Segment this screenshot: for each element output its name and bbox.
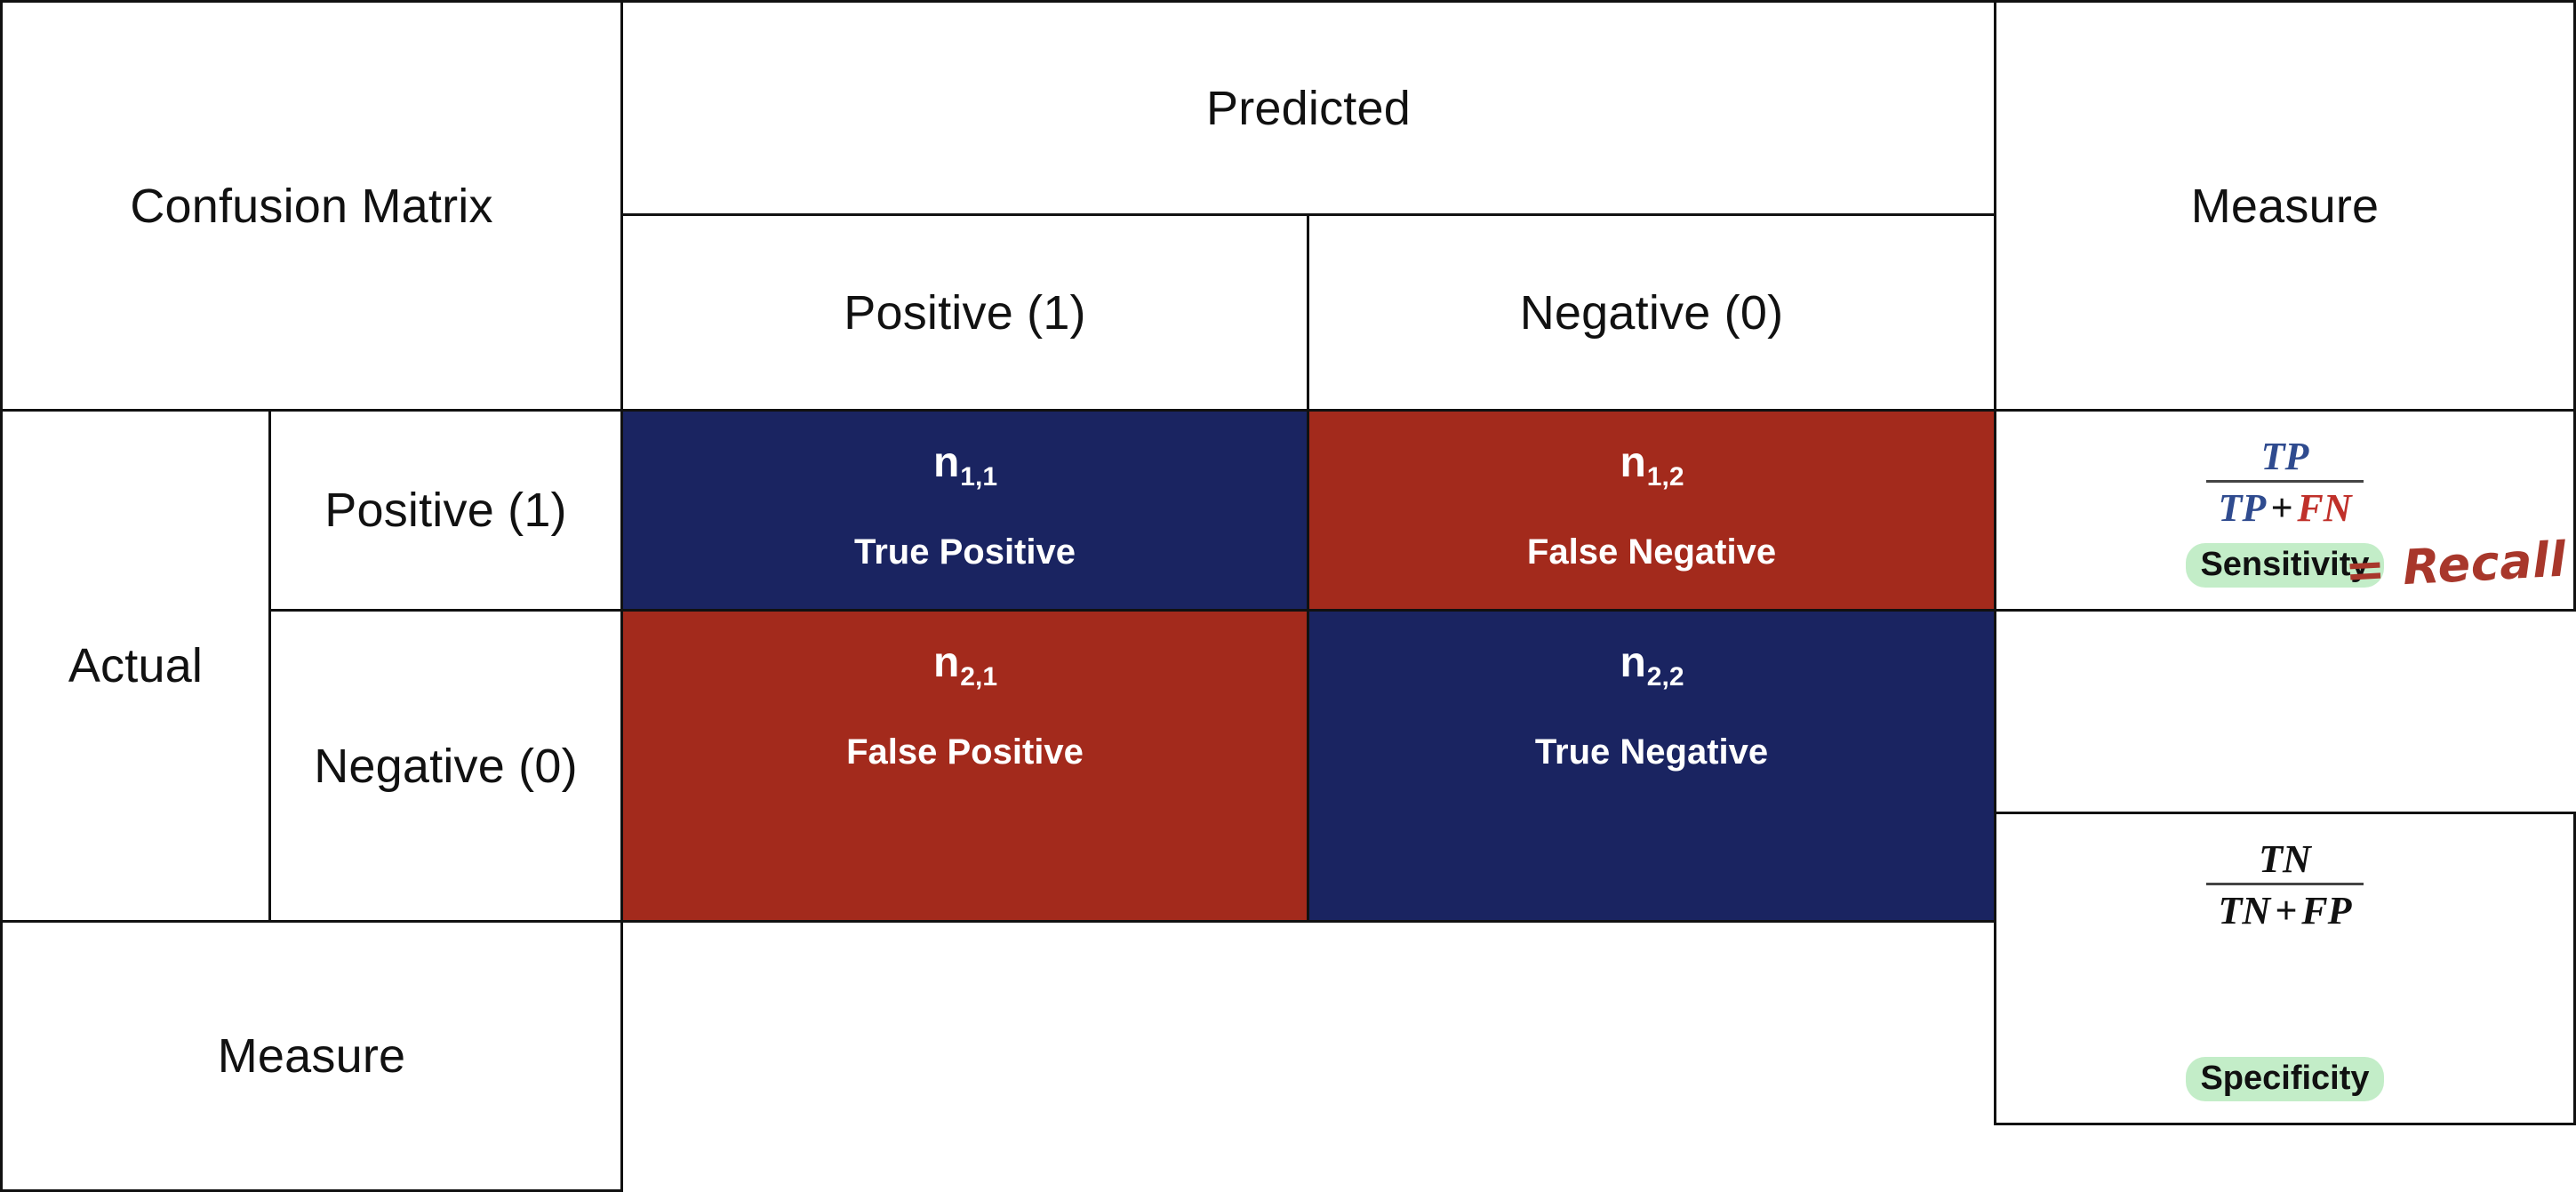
header-measure-top: Measure (1994, 0, 2576, 412)
header-actual-label: Actual (68, 638, 203, 693)
specificity-formula: TN TN+FP (2206, 837, 2364, 933)
header-measure-top-label: Measure (2191, 179, 2380, 234)
true-positive-symbol: n1,1 (933, 442, 996, 484)
true-negative-symbol-sub: 2,2 (1647, 662, 1684, 692)
header-corner-confusion-matrix: Confusion Matrix (0, 0, 623, 412)
header-predicted-negative: Negative (0) (1307, 213, 1996, 412)
specificity-denominator: TN+FP (2206, 883, 2364, 932)
confusion-matrix-table: Confusion Matrix Predicted Positive (1) … (0, 0, 2576, 1192)
header-actual-negative: Negative (0) (268, 609, 623, 923)
header-predicted: Predicted (620, 0, 1996, 216)
false-positive-name: False Positive (846, 732, 1084, 772)
true-positive-symbol-sub: 1,1 (960, 462, 997, 492)
header-predicted-positive: Positive (1) (620, 213, 1309, 412)
false-negative-symbol-base: n (1620, 439, 1645, 486)
header-actual-positive-label: Positive (1) (324, 483, 566, 538)
specificity-denominator-a: TN (2219, 889, 2271, 932)
specificity-denominator-op: + (2270, 889, 2301, 932)
matrix-cell-true-positive: n1,1 True Positive (620, 409, 1309, 612)
header-measure-bottom-label: Measure (218, 1028, 406, 1084)
header-measure-bottom: Measure (0, 920, 623, 1192)
false-positive-symbol-sub: 2,1 (960, 662, 997, 692)
false-negative-symbol: n1,2 (1620, 442, 1683, 484)
measure-sensitivity: TP TP+FN Sensitivity = Recall (1994, 409, 2576, 612)
sensitivity-denominator-a: TP (2219, 486, 2267, 530)
sensitivity-caption: Sensitivity (2186, 543, 2383, 588)
matrix-cell-false-positive: n2,1 False Positive (620, 609, 1309, 923)
true-negative-name: True Negative (1535, 732, 1768, 772)
specificity-denominator-b: FP (2301, 889, 2351, 932)
header-predicted-positive-label: Positive (1) (844, 285, 1085, 340)
header-actual-positive: Positive (1) (268, 409, 623, 612)
false-negative-symbol-sub: 1,2 (1647, 462, 1684, 492)
specificity-numerator: TN (2246, 837, 2324, 883)
sensitivity-caption-row: Sensitivity (2186, 546, 2383, 584)
sensitivity-denominator-op: + (2266, 486, 2297, 530)
specificity-caption: Specificity (2186, 1057, 2383, 1101)
header-corner-label: Confusion Matrix (130, 179, 492, 234)
true-negative-symbol: n2,2 (1620, 642, 1683, 684)
header-predicted-negative-label: Negative (0) (1520, 285, 1784, 340)
specificity-caption-row: Specificity (2186, 1060, 2383, 1098)
sensitivity-denominator: TP+FN (2206, 480, 2364, 530)
false-positive-symbol-base: n (933, 639, 959, 686)
sensitivity-formula: TP TP+FN (2206, 435, 2364, 531)
true-negative-symbol-base: n (1620, 639, 1645, 686)
sensitivity-denominator-b: FN (2297, 486, 2351, 530)
true-positive-name: True Positive (854, 532, 1076, 572)
matrix-cell-true-negative: n2,2 True Negative (1307, 609, 1996, 923)
sensitivity-numerator: TP (2249, 435, 2322, 480)
header-actual-negative-label: Negative (0) (314, 739, 578, 794)
true-positive-symbol-base: n (933, 439, 959, 486)
false-positive-symbol: n2,1 (933, 642, 996, 684)
header-actual: Actual (0, 409, 271, 923)
matrix-cell-false-negative: n1,2 False Negative (1307, 409, 1996, 612)
measure-specificity: TN TN+FP Specificity (1994, 812, 2576, 1125)
header-predicted-label: Predicted (1206, 81, 1411, 136)
false-negative-name: False Negative (1527, 532, 1776, 572)
